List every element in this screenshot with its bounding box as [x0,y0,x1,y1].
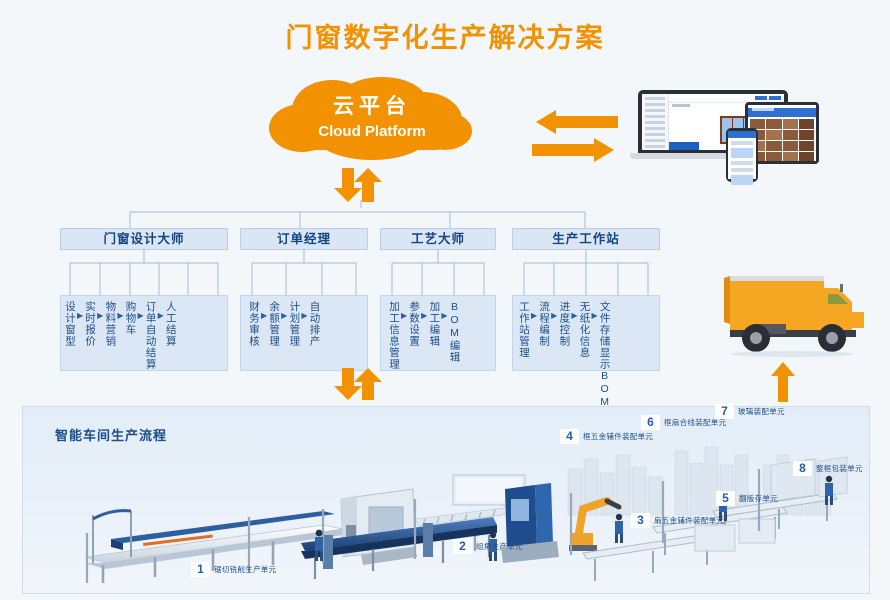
module-item[interactable]: 实时报价 [84,295,96,347]
unit-number: 4 [560,429,579,444]
module-item[interactable]: 人工结算 [165,295,177,347]
module-design-master[interactable]: 门窗设计大师 设计窗型 ▶ 实时报价 ▶ 物料营销 ▶ 购物车 ▶ 订单自动结算… [60,228,228,250]
workshop-unit-3[interactable]: 3 扇五金辅件装配单元 [631,513,724,528]
chevron-right-icon: ▶ [76,311,84,320]
module-branch-lines [380,249,496,295]
unit-label: 翻版存单元 [739,493,778,504]
module-branch-lines [60,249,228,295]
workshop-unit-7[interactable]: 7 玻璃装配单元 [715,404,785,419]
arrow-down-icon [334,168,362,202]
workshop-unit-8[interactable]: 8 整框包装单元 [793,461,863,476]
module-branch-lines [240,249,368,295]
module-item[interactable]: BOM编辑 [448,295,460,363]
module-items: 加工信息管理 ▶ 参数设置 ▶ 加工编辑 ▶ BOM编辑 [380,295,504,371]
module-order-manager[interactable]: 订单经理 财务审核 ▶ 余额管理 ▶ 计划管理 ▶ 自动排产 [240,228,368,250]
module-item[interactable]: 财务审核 [248,295,260,347]
workshop-unit-5[interactable]: 5 翻版存单元 [716,491,778,506]
module-item[interactable]: 加工编辑 [428,295,440,347]
module-item[interactable]: 工作站管理 [518,295,530,359]
chevron-right-icon: ▶ [280,311,288,320]
module-item[interactable]: 余额管理 [268,295,280,347]
unit-label: 组角生产单元 [476,541,523,552]
phone-device [726,128,758,182]
module-items: 工作站管理 ▶ 流程编制 ▶ 进度控制 ▶ 无纸化信息 ▶ 文件存储显示BOM及… [512,295,666,371]
device-exchange-arrows [530,110,620,162]
workshop-unit-2[interactable]: 2 组角生产单元 [453,539,523,554]
unit-number: 7 [715,404,734,419]
delivery-truck [712,268,870,360]
module-items: 设计窗型 ▶ 实时报价 ▶ 物料营销 ▶ 购物车 ▶ 订单自动结算 ▶ 人工结算 [60,295,232,371]
module-production-workstation[interactable]: 生产工作站 工作站管理 ▶ 流程编制 ▶ 进度控制 ▶ 无纸化信息 ▶ 文件存储… [512,228,660,250]
module-item[interactable]: 无纸化信息 [578,295,590,359]
unit-label: 锯切铣削生产单元 [214,564,276,575]
module-title: 订单经理 [240,228,368,250]
cloud-platform-node: 云平台 Cloud Platform [262,76,482,162]
module-title: 工艺大师 [380,228,496,250]
chevron-right-icon: ▶ [570,311,578,320]
workshop-unit-4[interactable]: 4 框五金辅件装配单元 [560,429,653,444]
page-title: 门窗数字化生产解决方案 [0,16,890,55]
module-process-master[interactable]: 工艺大师 加工信息管理 ▶ 参数设置 ▶ 加工编辑 ▶ BOM编辑 [380,228,496,250]
module-item[interactable]: 设计窗型 [64,295,76,347]
arrow-down-icon [334,368,362,400]
unit-label: 玻璃装配单元 [738,406,785,417]
chevron-right-icon: ▶ [550,311,558,320]
cloud-sync-arrows [330,168,392,204]
chevron-right-icon: ▶ [136,311,144,320]
chevron-right-icon: ▶ [157,311,165,320]
workshop-unit-1[interactable]: 1 锯切铣削生产单元 [191,562,276,577]
unit-number: 2 [453,539,472,554]
module-items: 财务审核 ▶ 余额管理 ▶ 计划管理 ▶ 自动排产 [240,295,376,371]
chevron-right-icon: ▶ [440,311,448,320]
chevron-right-icon: ▶ [590,311,598,320]
chevron-right-icon: ▶ [420,311,428,320]
unit-number: 1 [191,562,210,577]
module-item[interactable]: 文件存储显示BOM及加工 [599,295,610,377]
module-item[interactable]: 自动排产 [308,295,320,347]
chevron-right-icon: ▶ [260,311,268,320]
chevron-right-icon: ▶ [530,311,538,320]
device-cluster [630,90,845,168]
module-item[interactable]: 购物车 [124,295,136,336]
arrow-up-icon [354,168,382,202]
chevron-right-icon: ▶ [400,311,408,320]
chevron-right-icon: ▶ [96,311,104,320]
unit-label: 扇五金辅件装配单元 [654,515,724,526]
cloud-icon [262,76,482,162]
module-item[interactable]: 物料营销 [104,295,116,347]
chevron-right-icon: ▶ [116,311,124,320]
chevron-right-icon: ▶ [300,311,308,320]
arrow-left-icon [536,110,618,134]
arrow-right-icon [532,138,614,162]
workshop-unit-6[interactable]: 6 框扇合线装配单元 [641,415,726,430]
module-item[interactable]: 订单自动结算 [145,295,157,370]
solution-diagram: 门窗数字化生产解决方案 云平台 Cloud Platform [0,0,890,600]
arrow-up-icon [354,368,382,400]
unit-number: 3 [631,513,650,528]
unit-number: 6 [641,415,660,430]
module-branch-lines [512,249,660,295]
unit-label: 整框包装单元 [816,463,863,474]
module-item[interactable]: 进度控制 [558,295,570,347]
module-item[interactable]: 计划管理 [288,295,300,347]
module-title: 门窗设计大师 [60,228,228,250]
workshop-sync-arrows [330,368,392,402]
unit-number: 5 [716,491,735,506]
unit-label: 框五金辅件装配单元 [583,431,653,442]
unit-number: 8 [793,461,812,476]
module-item[interactable]: 参数设置 [408,295,420,347]
module-item[interactable]: 加工信息管理 [388,295,400,370]
workshop-panel: 智能车间生产流程 [22,406,870,594]
module-item[interactable]: 流程编制 [538,295,550,347]
arrow-up-icon [771,362,795,402]
module-title: 生产工作站 [512,228,660,250]
truck-delivery-arrow [770,362,796,402]
